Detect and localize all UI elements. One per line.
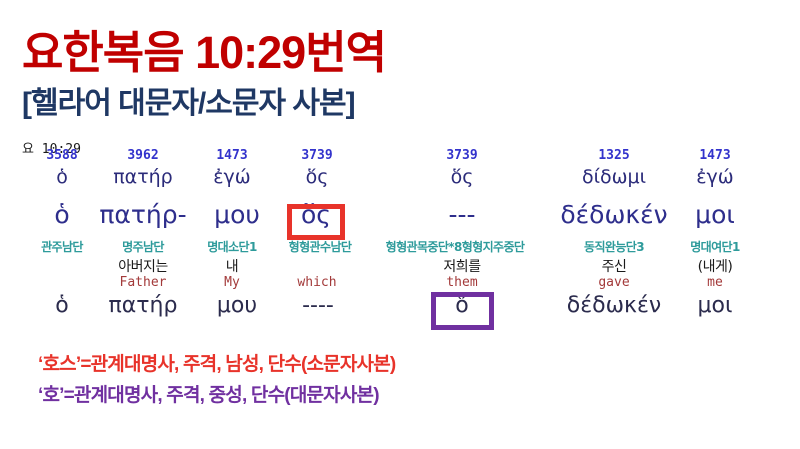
greek-word-row3: μοι (698, 293, 733, 318)
greek-word-row1: ὁ (56, 166, 68, 188)
strongs-number: 1473 (216, 148, 247, 163)
english-gloss: them (446, 275, 477, 290)
english-gloss: gave (598, 275, 629, 290)
english-gloss: My (224, 275, 240, 290)
greek-word-row3: ὁ (55, 293, 68, 318)
grammar-code: 명대여단1 (690, 238, 740, 255)
greek-word-row1: πατήρ (113, 166, 173, 188)
strongs-number: 3739 (301, 148, 332, 163)
korean-gloss: 주신 (602, 256, 627, 276)
english-gloss: Father (120, 275, 167, 290)
strongs-number: 3962 (127, 148, 158, 163)
grammar-code: 명대소단1 (207, 238, 257, 255)
korean-gloss: 내 (226, 256, 238, 276)
greek-word-row2: ὁ (54, 200, 69, 229)
strongs-number: 3588 (46, 148, 77, 163)
conclusion-line-ho: ‘호’=관계대명사, 주격, 중성, 단수(대문자사본) (38, 380, 379, 407)
highlight-box-masculine-hos (287, 204, 345, 240)
greek-word-row2: μοι (695, 200, 735, 229)
korean-gloss: 아버지는 (118, 256, 168, 276)
greek-word-row2: δέδωκέν (560, 200, 667, 229)
korean-gloss: 저희를 (443, 256, 480, 276)
greek-word-row2: πατήρ- (99, 200, 186, 229)
grammar-code: 관주남단 (41, 238, 83, 255)
greek-word-row1: ὅς (306, 166, 329, 188)
grammar-code: 명주남단 (122, 238, 164, 255)
greek-word-row3: ---- (302, 293, 334, 318)
greek-word-row1: ὅς (451, 166, 474, 188)
greek-word-row3: δέδωκέν (567, 293, 661, 318)
grammar-code: 형형관목중단*8형형지주중단 (386, 238, 525, 255)
english-gloss: which (297, 275, 336, 290)
strongs-number: 1325 (598, 148, 629, 163)
korean-gloss: (내게) (698, 256, 733, 276)
greek-word-row1: ἐγώ (696, 166, 733, 188)
highlight-box-neuter-ho (431, 292, 494, 330)
greek-word-row3: πατήρ (109, 293, 178, 318)
page-subtitle: [헬라어 대문자/소문자 사본] (22, 78, 355, 122)
interlinear-table: 요 10:29 3588 ὁ ὁ 관주남단 ὁ 3962 πατήρ πατήρ… (0, 130, 800, 340)
conclusion-line-hos: ‘호스’=관계대명사, 주격, 남성, 단수(소문자사본) (38, 349, 395, 376)
greek-word-row2: --- (448, 200, 475, 229)
greek-word-row1: ἐγώ (213, 166, 250, 188)
grammar-code: 동직완능단3 (584, 238, 644, 255)
grammar-code: 형형관수남단 (289, 238, 352, 255)
english-gloss: me (707, 275, 723, 290)
greek-word-row1: δίδωμι (582, 166, 646, 188)
greek-word-row3: μου (217, 293, 257, 318)
strongs-number: 1473 (699, 148, 730, 163)
strongs-number: 3739 (446, 148, 477, 163)
greek-word-row2: μου (214, 200, 260, 229)
page-title: 요한복음 10:29번역 (22, 16, 386, 81)
